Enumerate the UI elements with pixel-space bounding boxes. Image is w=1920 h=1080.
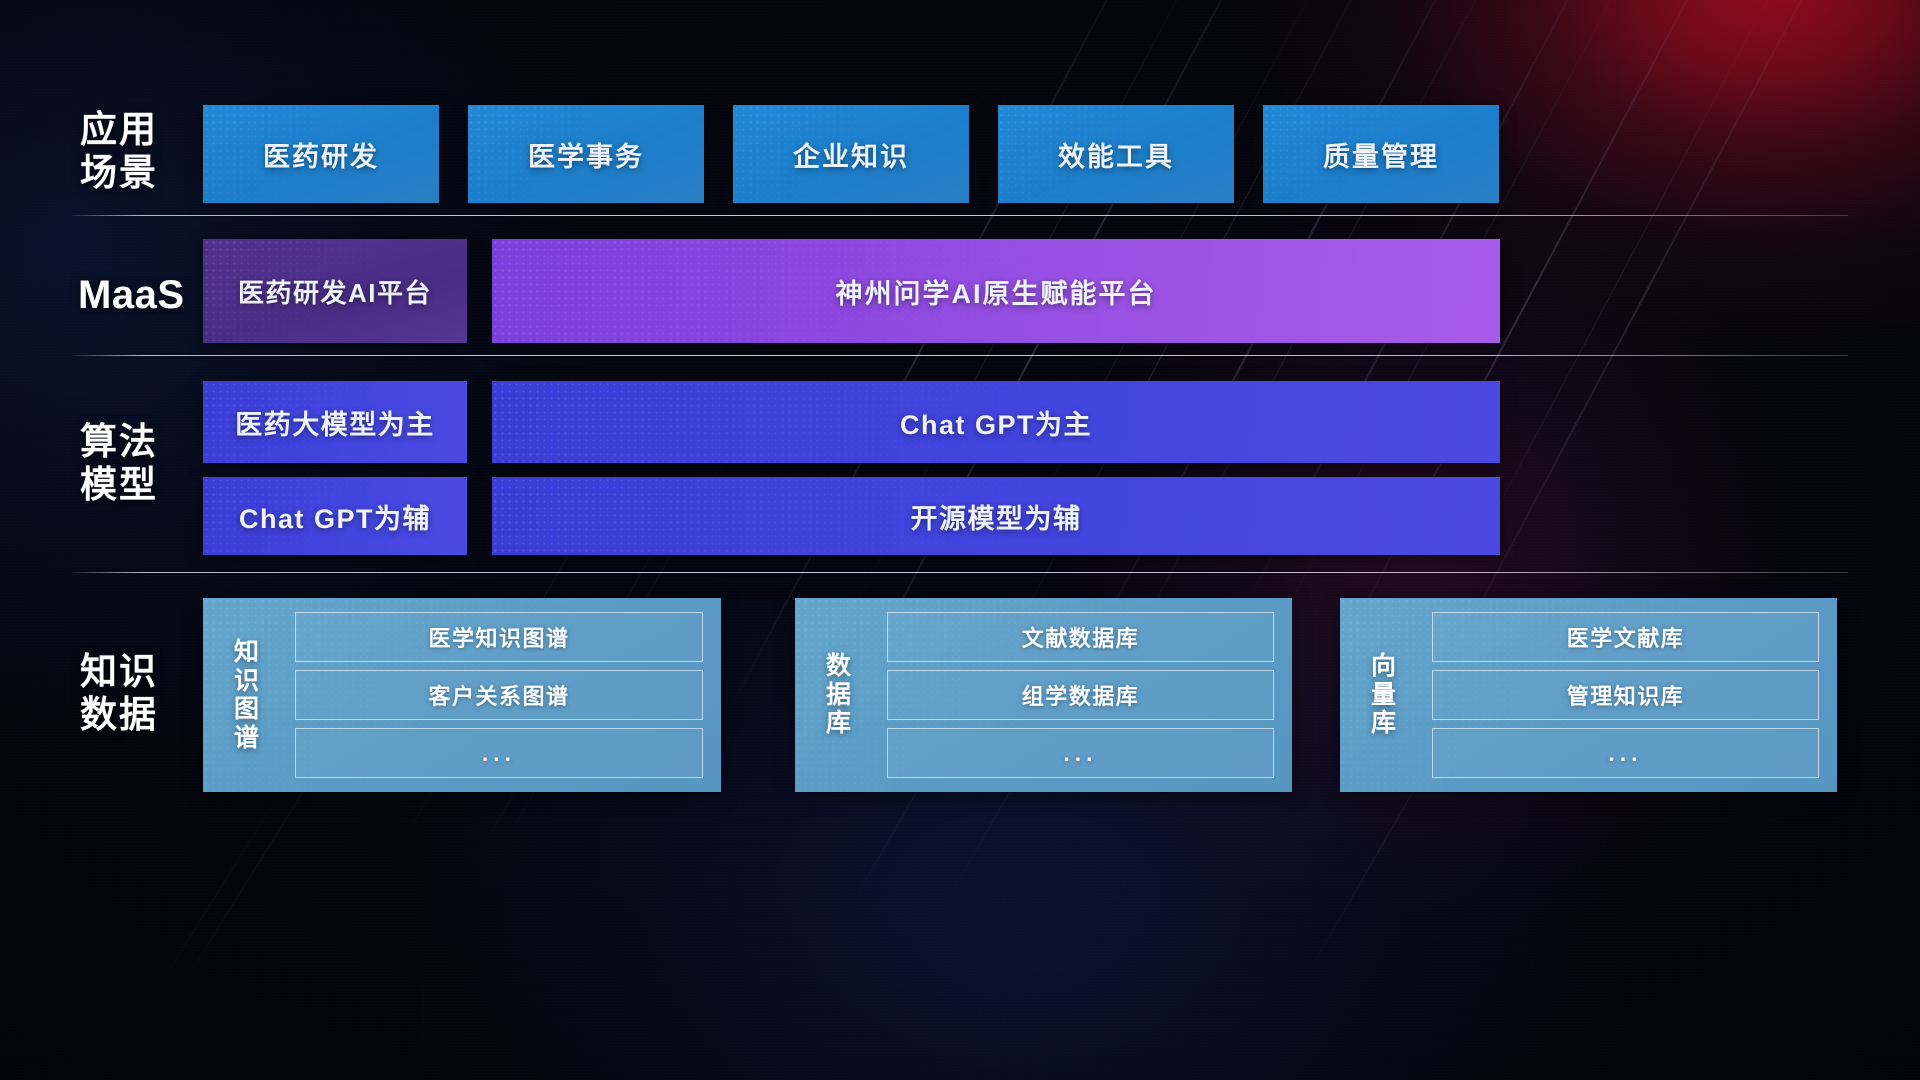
algo-card-chatgpt-primary[interactable]: Chat GPT为主 bbox=[492, 381, 1500, 463]
tier-label-knowledge: 知识 数据 bbox=[80, 650, 200, 737]
tier-divider-2 bbox=[72, 355, 1848, 356]
app-card-medical-affairs[interactable]: 医学事务 bbox=[468, 105, 704, 203]
tier-divider-3 bbox=[72, 572, 1848, 573]
maas-card-label: 神州问学AI原生赋能平台 bbox=[836, 272, 1157, 311]
knowledge-item[interactable]: 医学知识图谱 bbox=[295, 612, 703, 662]
knowledge-panel-database[interactable]: 数 据 库 文献数据库 组学数据库 ... bbox=[795, 598, 1292, 792]
app-card-efficiency-tools[interactable]: 效能工具 bbox=[998, 105, 1234, 203]
knowledge-panel-items: 医学知识图谱 客户关系图谱 ... bbox=[281, 608, 709, 782]
app-card-label: 医药研发 bbox=[263, 135, 379, 174]
knowledge-item-more[interactable]: ... bbox=[295, 728, 703, 778]
knowledge-panel-items: 医学文献库 管理知识库 ... bbox=[1418, 608, 1825, 782]
app-card-label: 企业知识 bbox=[793, 135, 909, 174]
app-card-label: 质量管理 bbox=[1323, 135, 1439, 174]
maas-card-medicine-ai-platform[interactable]: 医药研发AI平台 bbox=[203, 239, 467, 343]
app-card-enterprise-knowledge[interactable]: 企业知识 bbox=[733, 105, 969, 203]
algo-card-label: 开源模型为辅 bbox=[911, 497, 1082, 536]
tier-label-maas: MaaS bbox=[78, 272, 208, 319]
algo-card-medicine-llm-primary[interactable]: 医药大模型为主 bbox=[203, 381, 467, 463]
knowledge-panel-side-label: 数 据 库 bbox=[805, 608, 873, 782]
tier-divider-1 bbox=[72, 215, 1848, 216]
knowledge-panel-items: 文献数据库 组学数据库 ... bbox=[873, 608, 1280, 782]
algo-card-label: Chat GPT为辅 bbox=[239, 497, 431, 536]
algo-card-chatgpt-secondary[interactable]: Chat GPT为辅 bbox=[203, 477, 467, 555]
knowledge-item[interactable]: 客户关系图谱 bbox=[295, 670, 703, 720]
app-card-label: 医学事务 bbox=[528, 135, 644, 174]
app-card-label: 效能工具 bbox=[1058, 135, 1174, 174]
knowledge-item[interactable]: 文献数据库 bbox=[887, 612, 1274, 662]
algo-card-label: 医药大模型为主 bbox=[235, 403, 435, 442]
knowledge-panel-side-label: 向 量 库 bbox=[1350, 608, 1418, 782]
knowledge-panel-side-label: 知 识 图 谱 bbox=[213, 608, 281, 782]
knowledge-item[interactable]: 医学文献库 bbox=[1432, 612, 1819, 662]
app-card-quality-management[interactable]: 质量管理 bbox=[1263, 105, 1499, 203]
maas-card-shenzhou-wenxue-platform[interactable]: 神州问学AI原生赋能平台 bbox=[492, 239, 1500, 343]
tier-label-algorithm: 算法 模型 bbox=[80, 420, 200, 507]
maas-card-label: 医药研发AI平台 bbox=[238, 273, 432, 310]
tier-label-application: 应用 场景 bbox=[80, 108, 200, 195]
knowledge-item[interactable]: 管理知识库 bbox=[1432, 670, 1819, 720]
knowledge-item-more[interactable]: ... bbox=[887, 728, 1274, 778]
app-card-medicine-rd[interactable]: 医药研发 bbox=[203, 105, 439, 203]
knowledge-item-more[interactable]: ... bbox=[1432, 728, 1819, 778]
knowledge-panel-vector-database[interactable]: 向 量 库 医学文献库 管理知识库 ... bbox=[1340, 598, 1837, 792]
knowledge-panel-knowledge-graph[interactable]: 知 识 图 谱 医学知识图谱 客户关系图谱 ... bbox=[203, 598, 721, 792]
architecture-diagram: 应用 场景 医药研发 医学事务 企业知识 效能工具 质量管理 MaaS 医药研发… bbox=[0, 0, 1920, 1080]
knowledge-item[interactable]: 组学数据库 bbox=[887, 670, 1274, 720]
algo-card-label: Chat GPT为主 bbox=[900, 403, 1092, 442]
algo-card-opensource-secondary[interactable]: 开源模型为辅 bbox=[492, 477, 1500, 555]
